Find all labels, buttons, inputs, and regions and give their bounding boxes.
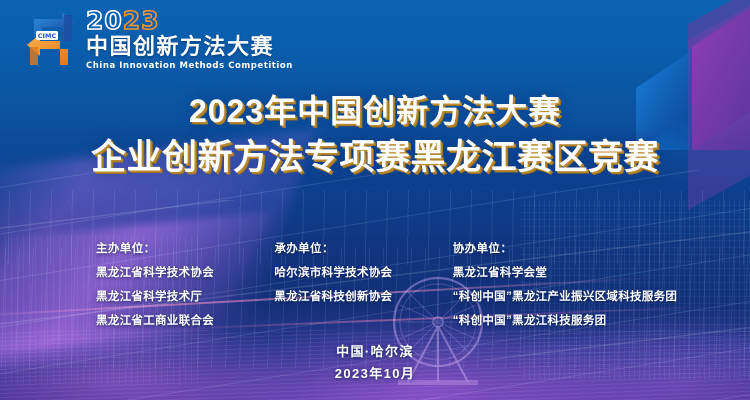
coorganizer-heading: 协办单位： — [453, 240, 750, 256]
event-date: 2023年10月 — [0, 363, 750, 384]
coorganizer-item: “科创中国”黑龙江产业振兴区域科技服务团 — [453, 288, 750, 304]
host-column: 主办单位： 黑龙江省科学技术协会 黑龙江省科学技术厅 黑龙江省工商业联合会 — [96, 240, 274, 336]
title-line-1: 2023年中国创新方法大赛 — [0, 92, 750, 131]
coorganizer-column: 协办单位： 黑龙江省科学会堂 “科创中国”黑龙江产业振兴区域科技服务团 “科创中… — [453, 240, 750, 336]
coorganizer-item: 黑龙江省科学会堂 — [453, 264, 750, 280]
title-line-2: 企业创新方法专项赛黑龙江赛区竞赛 — [0, 137, 750, 180]
host-item: 黑龙江省科学技术厅 — [96, 288, 274, 304]
logo-year-second: 23 — [123, 6, 160, 35]
undertaker-item: 哈尔滨市科学技术协会 — [274, 264, 452, 280]
host-item: 黑龙江省工商业联合会 — [96, 312, 274, 328]
event-location: 中国·哈尔滨 — [0, 341, 750, 362]
host-heading: 主办单位： — [96, 240, 274, 256]
competition-logo: CIMC 2023 中国创新方法大赛 China Innovation Meth… — [22, 6, 293, 71]
cimc-emblem-icon: CIMC — [22, 7, 80, 69]
logo-chinese-name: 中国创新方法大赛 — [86, 36, 293, 58]
logo-english-name: China Innovation Methods Competition — [86, 62, 293, 71]
logo-year: 2023 — [86, 8, 293, 33]
host-item: 黑龙江省科学技术协会 — [96, 264, 274, 280]
banner-title: 2023年中国创新方法大赛 企业创新方法专项赛黑龙江赛区竞赛 — [0, 92, 750, 180]
coorganizer-item: “科创中国”黑龙江科技服务团 — [453, 312, 750, 328]
undertaker-heading: 承办单位： — [274, 240, 452, 256]
logo-year-first: 20 — [86, 6, 123, 35]
cimc-badge-text: CIMC — [38, 32, 57, 40]
banner-footer: 中国·哈尔滨 2023年10月 — [0, 341, 750, 384]
event-banner: CIMC 2023 中国创新方法大赛 China Innovation Meth… — [0, 0, 750, 400]
organizer-columns: 主办单位： 黑龙江省科学技术协会 黑龙江省科学技术厅 黑龙江省工商业联合会 承办… — [0, 240, 750, 336]
undertaker-item: 黑龙江省科技创新协会 — [274, 288, 452, 304]
undertaker-column: 承办单位： 哈尔滨市科学技术协会 黑龙江省科技创新协会 — [274, 240, 452, 336]
